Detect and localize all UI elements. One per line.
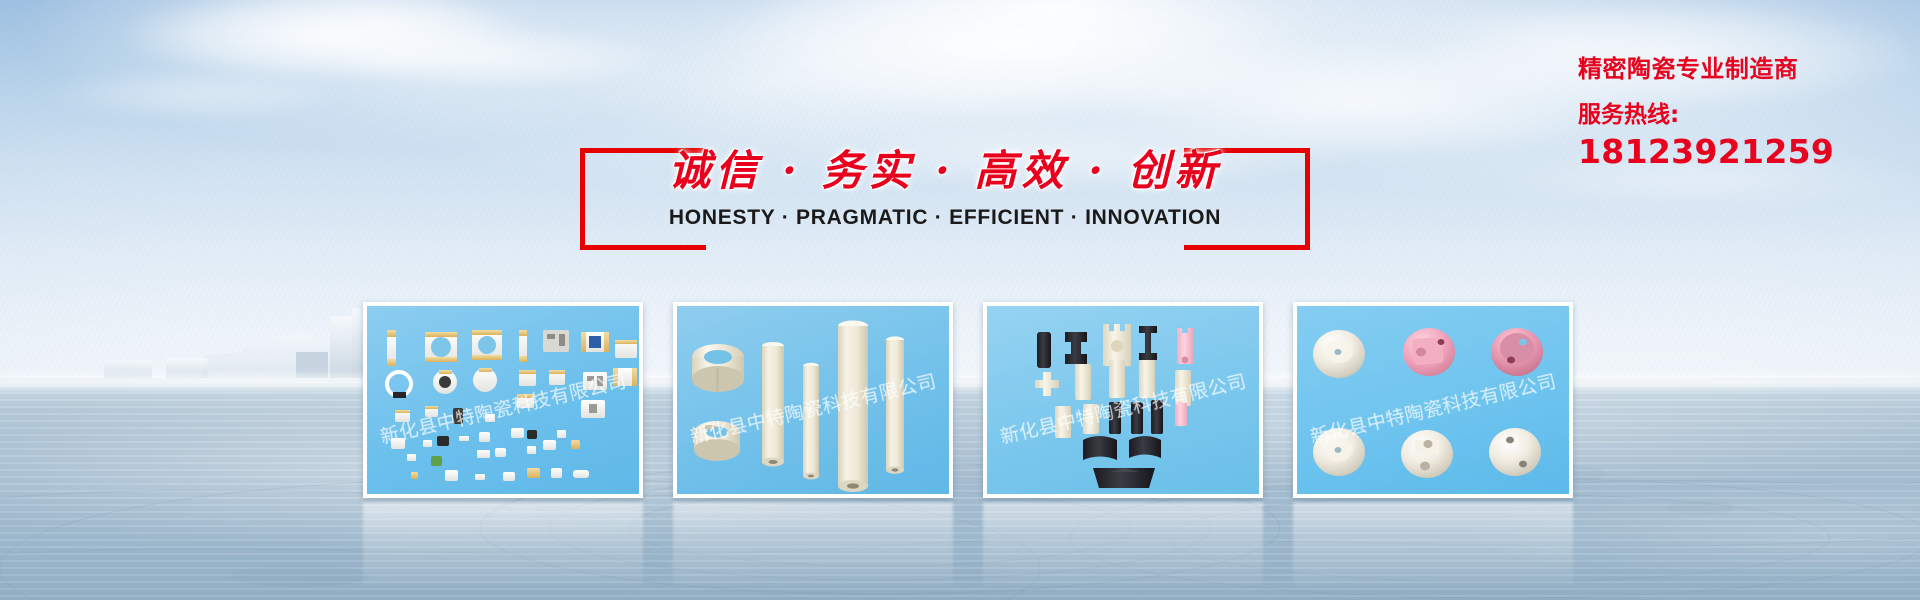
- company-tagline: 精密陶瓷专业制造商: [1578, 52, 1908, 86]
- product-panel-row: 新化县中特陶瓷科技有限公司: [363, 302, 1563, 498]
- product-panel-ceramic-discs[interactable]: 新化县中特陶瓷科技有限公司: [1293, 302, 1573, 498]
- hotline-label: 服务热线:: [1578, 100, 1908, 130]
- slogan-block: 诚信 · 务实 · 高效 · 创新 HONESTY · PRAGMATIC · …: [580, 140, 1310, 250]
- hotline-number[interactable]: 18123921259: [1578, 132, 1908, 172]
- panel-reflection: [983, 502, 1263, 586]
- panel-reflection: [1293, 502, 1573, 586]
- ceramic-tubes-illustration: [677, 306, 949, 494]
- slogan-chinese: 诚信 · 务实 · 高效 · 创新: [580, 140, 1310, 202]
- chip-components-illustration: [367, 306, 639, 494]
- product-panel-ceramic-tubes[interactable]: 新化县中特陶瓷科技有限公司: [673, 302, 953, 498]
- slogan-english: HONESTY · PRAGMATIC · EFFICIENT · INNOVA…: [580, 206, 1310, 230]
- panel-reflection: [673, 502, 953, 586]
- structural-parts-illustration: [987, 306, 1259, 494]
- cloud-shape: [330, 28, 660, 88]
- product-panel-chip-components[interactable]: 新化县中特陶瓷科技有限公司: [363, 302, 643, 498]
- cloud-shape: [40, 70, 340, 120]
- promo-banner: 诚信 · 务实 · 高效 · 创新 HONESTY · PRAGMATIC · …: [0, 0, 1920, 600]
- contact-block: 精密陶瓷专业制造商 服务热线: 18123921259: [1578, 52, 1908, 172]
- ceramic-discs-illustration: [1297, 306, 1569, 494]
- panel-reflection: [363, 502, 643, 586]
- product-panel-structural-parts[interactable]: 新化县中特陶瓷科技有限公司: [983, 302, 1263, 498]
